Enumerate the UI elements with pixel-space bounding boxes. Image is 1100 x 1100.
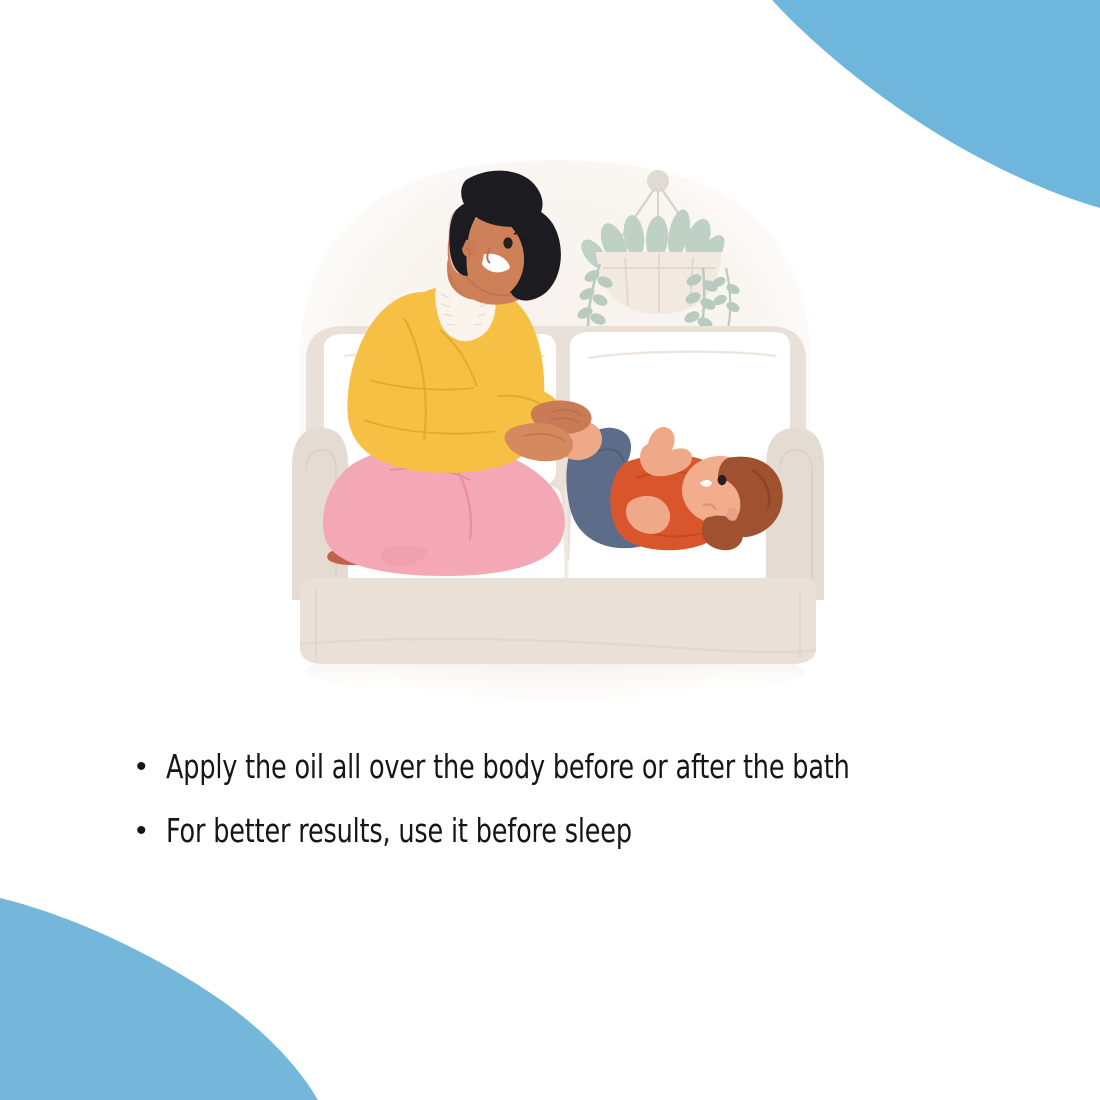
bullet-marker-icon: •: [136, 745, 166, 789]
plant-hook-icon: [647, 170, 669, 192]
illustration: [0, 0, 1100, 1100]
bullet-text-2: For better results, use it before sleep: [166, 809, 632, 853]
poster-canvas: • Apply the oil all over the body before…: [0, 0, 1100, 1100]
list-item: • Apply the oil all over the body before…: [136, 745, 1016, 789]
baby-eye: [718, 475, 727, 485]
bullet-text-1: Apply the oil all over the body before o…: [166, 745, 850, 789]
bullet-marker-icon: •: [136, 809, 166, 853]
mother-eye: [503, 237, 512, 248]
list-item: • For better results, use it before slee…: [136, 809, 1016, 853]
bullet-list: • Apply the oil all over the body before…: [136, 745, 1016, 873]
